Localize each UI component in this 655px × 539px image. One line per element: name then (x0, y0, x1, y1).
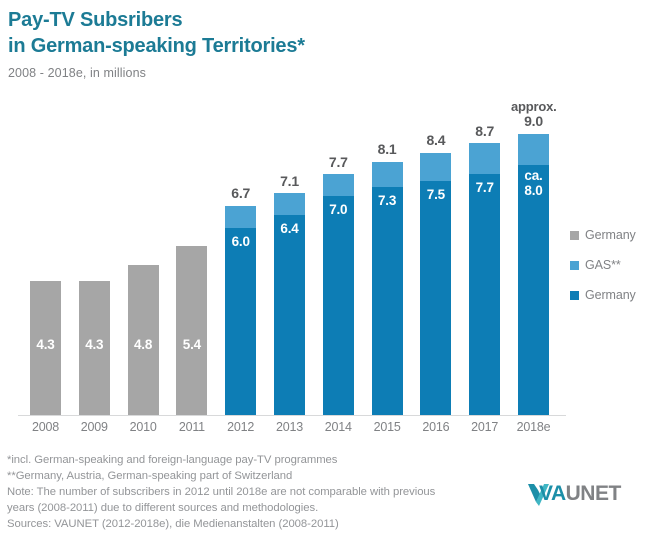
legend-item[interactable]: Germany (570, 288, 636, 302)
bar-value-label: 7.3 (372, 194, 403, 209)
bar-value-label: 7.5 (420, 188, 451, 203)
legend-item[interactable]: GAS** (570, 258, 636, 272)
bar-total-label: 7.7 (316, 155, 361, 170)
bar-2009[interactable]: 4.3 (79, 281, 110, 415)
bar-2018e[interactable]: approx.9.0ca. 8.0 (518, 134, 549, 415)
chart-plot-area: 4.34.34.85.46.76.07.16.47.77.08.17.38.47… (0, 96, 655, 416)
vaunet-logo: VAUNET (525, 481, 645, 511)
bar-value-label: ca. 8.0 (518, 169, 549, 198)
bar-stack: 4.3 (79, 281, 110, 415)
bar-stack: 4.3 (30, 281, 61, 415)
bar-value-label: 4.8 (128, 338, 159, 353)
axis-baseline (18, 415, 566, 416)
footnote-note: Note: The number of subscribers in 2012 … (7, 484, 507, 516)
bar-value-label: 5.4 (176, 338, 207, 353)
bar-2010[interactable]: 4.8 (128, 265, 159, 415)
x-tick-2012: 2012 (217, 420, 264, 434)
bar-total-label: 7.1 (267, 174, 312, 189)
bar-stack: 7.0 (323, 174, 354, 415)
x-tick-2017: 2017 (461, 420, 508, 434)
legend-swatch-icon (570, 291, 579, 300)
bar-segment-germany-blue[interactable]: 7.0 (323, 196, 354, 415)
footnotes: *incl. German-speaking and foreign-langu… (7, 452, 507, 532)
footnote-asterisk: *incl. German-speaking and foreign-langu… (7, 452, 507, 468)
bar-segment-gas[interactable] (420, 153, 451, 181)
bar-segment-germany-gray[interactable]: 4.8 (128, 265, 159, 415)
bar-value-label: 6.4 (274, 222, 305, 237)
bar-segment-gas[interactable] (323, 174, 354, 196)
bar-value-label: 4.3 (30, 338, 61, 353)
legend-label: GAS** (585, 258, 621, 272)
bar-stack: 6.0 (225, 206, 256, 415)
bar-total-label: 8.7 (462, 124, 507, 139)
legend-label: Germany (585, 288, 636, 302)
bar-stack: 7.5 (420, 153, 451, 416)
x-tick-2016: 2016 (412, 420, 459, 434)
bar-segment-germany-blue[interactable]: 7.7 (469, 174, 500, 415)
bar-segment-gas[interactable] (469, 143, 500, 174)
bar-value-label: 7.7 (469, 181, 500, 196)
legend-swatch-icon (570, 231, 579, 240)
bar-stack: 7.3 (372, 162, 403, 415)
bar-2013[interactable]: 7.16.4 (274, 193, 305, 415)
x-tick-2015: 2015 (364, 420, 411, 434)
bar-segment-germany-gray[interactable]: 4.3 (30, 281, 61, 415)
x-tick-2018e: 2018e (510, 420, 557, 434)
x-tick-2010: 2010 (120, 420, 167, 434)
logo-text-unet: UNET (566, 482, 621, 505)
logo-text-va: VA (539, 482, 566, 505)
bar-segment-gas[interactable] (274, 193, 305, 215)
bar-segment-germany-blue[interactable]: 7.5 (420, 181, 451, 415)
bar-stack: ca. 8.0 (518, 134, 549, 415)
page-title: Pay-TV Subsribers in German-speaking Ter… (8, 8, 528, 59)
bar-stack: 4.8 (128, 265, 159, 415)
legend-item[interactable]: Germany (570, 228, 636, 242)
x-tick-2014: 2014 (315, 420, 362, 434)
bar-total-label: 8.1 (365, 142, 410, 157)
bar-stack: 5.4 (176, 246, 207, 415)
bar-segment-germany-blue[interactable]: 7.3 (372, 187, 403, 415)
x-tick-2011: 2011 (168, 420, 215, 434)
bar-total-label: 8.4 (413, 133, 458, 148)
bar-value-label: 6.0 (225, 235, 256, 250)
bar-segment-germany-gray[interactable]: 5.4 (176, 246, 207, 415)
footnote-sources: Sources: VAUNET (2012-2018e), die Medien… (7, 516, 507, 532)
chart-legend: GermanyGAS**Germany (570, 228, 636, 318)
approx-word: approx. (511, 100, 556, 114)
bar-total-label: approx.9.0 (511, 100, 556, 130)
bar-2015[interactable]: 8.17.3 (372, 162, 403, 415)
bar-segment-gas[interactable] (225, 206, 256, 228)
legend-swatch-icon (570, 261, 579, 270)
bar-stack: 6.4 (274, 193, 305, 415)
bar-value-label: 7.0 (323, 203, 354, 218)
bar-2008[interactable]: 4.3 (30, 281, 61, 415)
chart-subtitle: 2008 - 2018e, in millions (8, 66, 528, 80)
x-tick-2009: 2009 (71, 420, 118, 434)
x-tick-2008: 2008 (22, 420, 69, 434)
bar-total-label: 6.7 (218, 186, 263, 201)
x-tick-2013: 2013 (266, 420, 313, 434)
bar-2017[interactable]: 8.77.7 (469, 143, 500, 415)
bar-stack: 7.7 (469, 143, 500, 415)
bar-2016[interactable]: 8.47.5 (420, 153, 451, 416)
bar-segment-germany-blue[interactable]: ca. 8.0 (518, 165, 549, 415)
bar-2012[interactable]: 6.76.0 (225, 206, 256, 415)
bar-segment-germany-blue[interactable]: 6.4 (274, 215, 305, 415)
bar-segment-germany-gray[interactable]: 4.3 (79, 281, 110, 415)
chart-header: Pay-TV Subsribers in German-speaking Ter… (8, 8, 528, 80)
x-axis: 2008200920102011201220132014201520162017… (0, 420, 655, 440)
bar-value-label: 4.3 (79, 338, 110, 353)
bar-segment-germany-blue[interactable]: 6.0 (225, 228, 256, 416)
logo-wordmark: VAUNET (539, 483, 621, 504)
bar-2011[interactable]: 5.4 (176, 246, 207, 415)
bar-segment-gas[interactable] (518, 134, 549, 165)
footnote-double-asterisk: **Germany, Austria, German-speaking part… (7, 468, 507, 484)
legend-label: Germany (585, 228, 636, 242)
bar-2014[interactable]: 7.77.0 (323, 174, 354, 415)
bar-segment-gas[interactable] (372, 162, 403, 187)
